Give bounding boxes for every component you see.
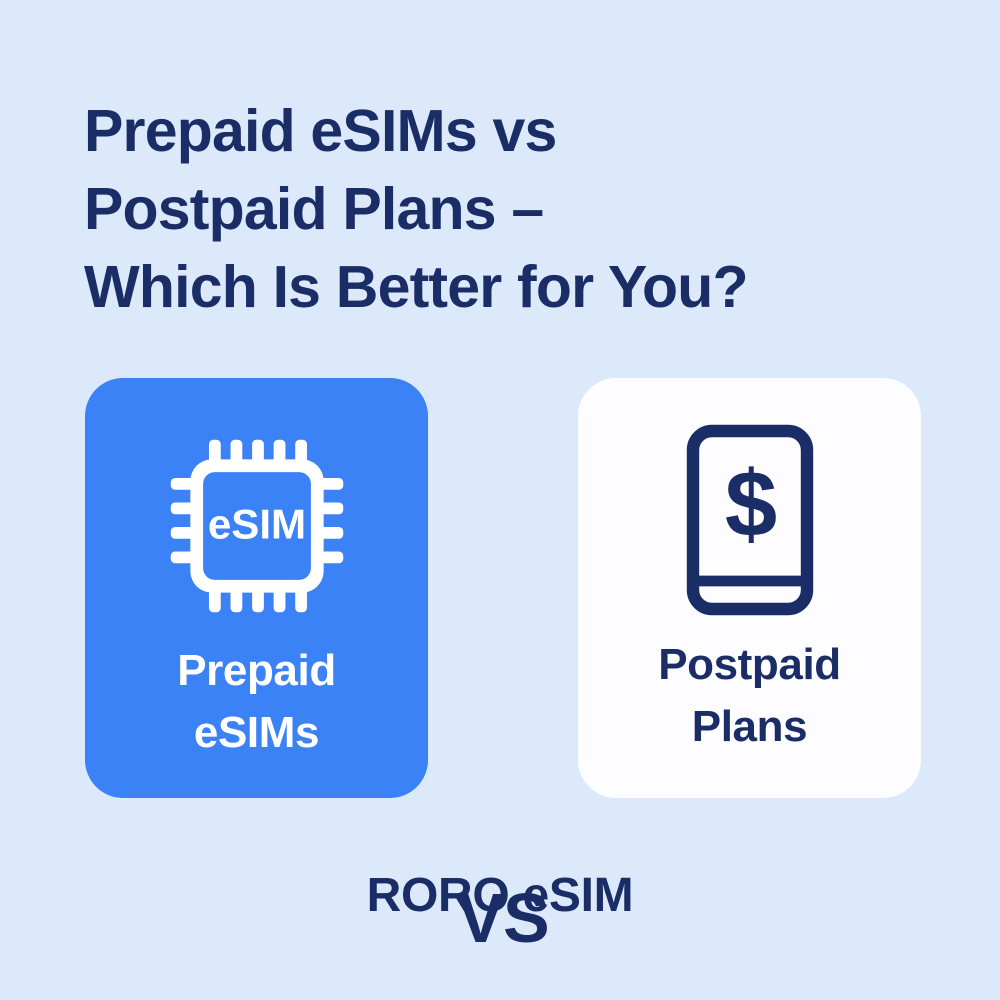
- prepaid-esim-card-label: Prepaid eSIMs: [177, 640, 336, 764]
- esim-chip-icon: eSIM: [159, 428, 355, 624]
- dollar-sign-glyph: $: [724, 451, 776, 556]
- esim-chip-icon-text: eSIM: [207, 501, 305, 548]
- page-title: Prepaid eSIMs vs Postpaid Plans – Which …: [84, 92, 924, 326]
- prepaid-esim-card[interactable]: eSIM Prepaid eSIMs: [85, 378, 428, 798]
- esim-chip-icon-wrapper: eSIM: [159, 426, 355, 626]
- page-title-line-1: Prepaid eSIMs vs: [84, 92, 924, 170]
- phone-dollar-icon: $: [684, 422, 816, 618]
- postpaid-plans-card-label-line-2: Plans: [658, 696, 841, 758]
- postpaid-plans-card-label: Postpaid Plans: [658, 634, 841, 758]
- postpaid-plans-card[interactable]: $ Postpaid Plans: [578, 378, 921, 798]
- prepaid-esim-card-label-line-2: eSIMs: [177, 702, 336, 764]
- prepaid-esim-card-label-line-1: Prepaid: [177, 640, 336, 702]
- comparison-row: eSIM Prepaid eSIMs VS: [0, 378, 1000, 798]
- poster-canvas: Prepaid eSIMs vs Postpaid Plans – Which …: [0, 0, 1000, 1000]
- page-title-line-3: Which Is Better for You?: [84, 248, 924, 326]
- postpaid-plans-card-label-line-1: Postpaid: [658, 634, 841, 696]
- brand-name: RORO eSIM: [0, 866, 1000, 926]
- page-title-line-2: Postpaid Plans –: [84, 170, 924, 248]
- phone-dollar-icon-wrapper: $: [684, 420, 816, 620]
